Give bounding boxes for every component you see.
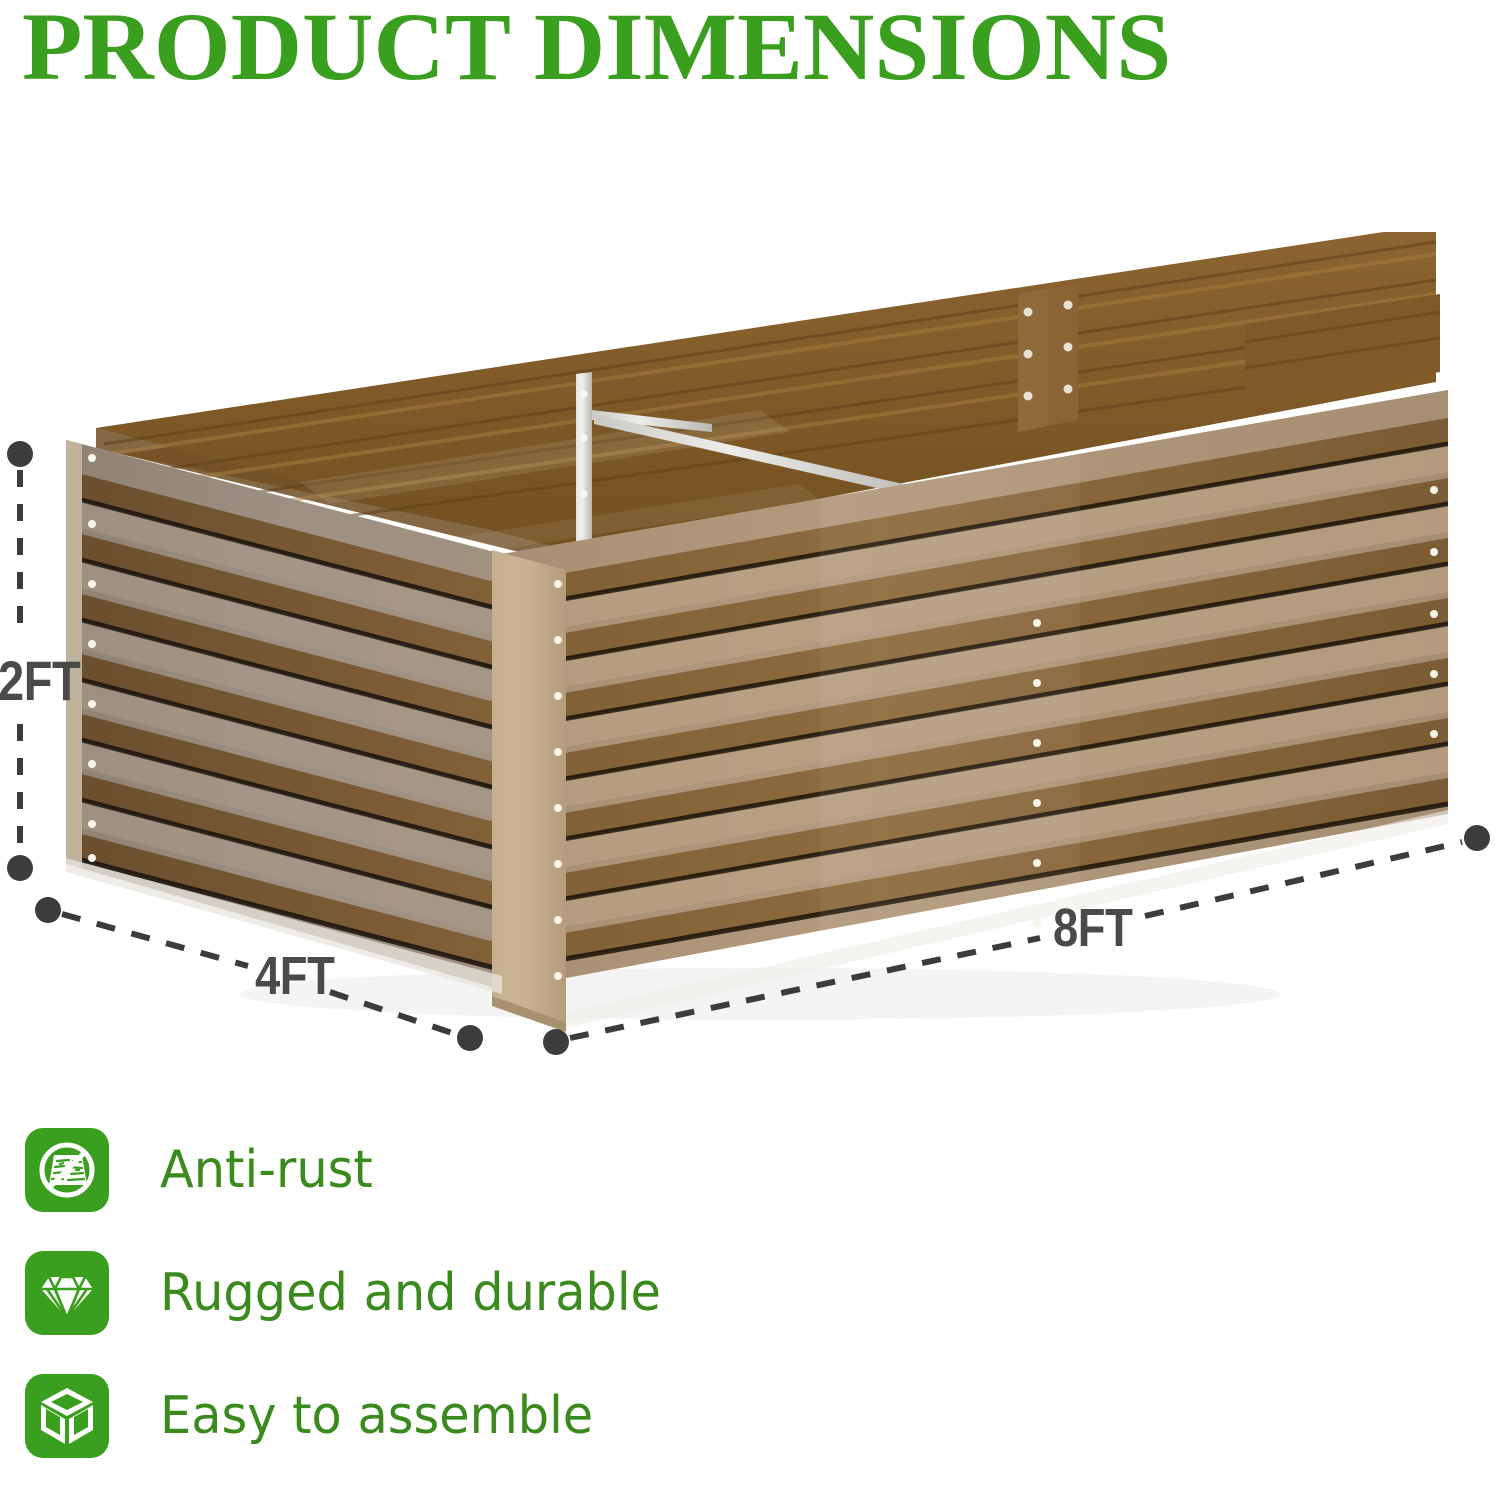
anti-rust-icon bbox=[25, 1128, 109, 1212]
feature-list: Anti-rust bbox=[25, 1128, 925, 1497]
product-illustration bbox=[0, 232, 1500, 1072]
page-title: PRODUCT DIMENSIONS bbox=[22, 0, 1495, 102]
feature-item-anti-rust: Anti-rust bbox=[25, 1128, 925, 1212]
feature-label-rugged-durable: Rugged and durable bbox=[160, 1265, 661, 1321]
dimension-label-height: 2FT bbox=[0, 648, 80, 713]
feature-label-easy-assemble: Easy to assemble bbox=[160, 1388, 593, 1444]
infographic-canvas: PRODUCT DIMENSIONS bbox=[0, 0, 1500, 1492]
corner-post-back-right bbox=[1018, 284, 1078, 432]
diamond-icon bbox=[25, 1251, 109, 1335]
feature-item-easy-assemble: Easy to assemble bbox=[25, 1374, 925, 1458]
feature-label-anti-rust: Anti-rust bbox=[160, 1142, 373, 1198]
dimension-label-width: 8FT bbox=[1053, 897, 1132, 959]
feature-item-rugged-durable: Rugged and durable bbox=[25, 1251, 925, 1335]
corner-post-front-left bbox=[492, 550, 566, 1032]
assemble-cube-icon bbox=[25, 1374, 109, 1458]
dimension-label-depth: 4FT bbox=[255, 945, 334, 1007]
